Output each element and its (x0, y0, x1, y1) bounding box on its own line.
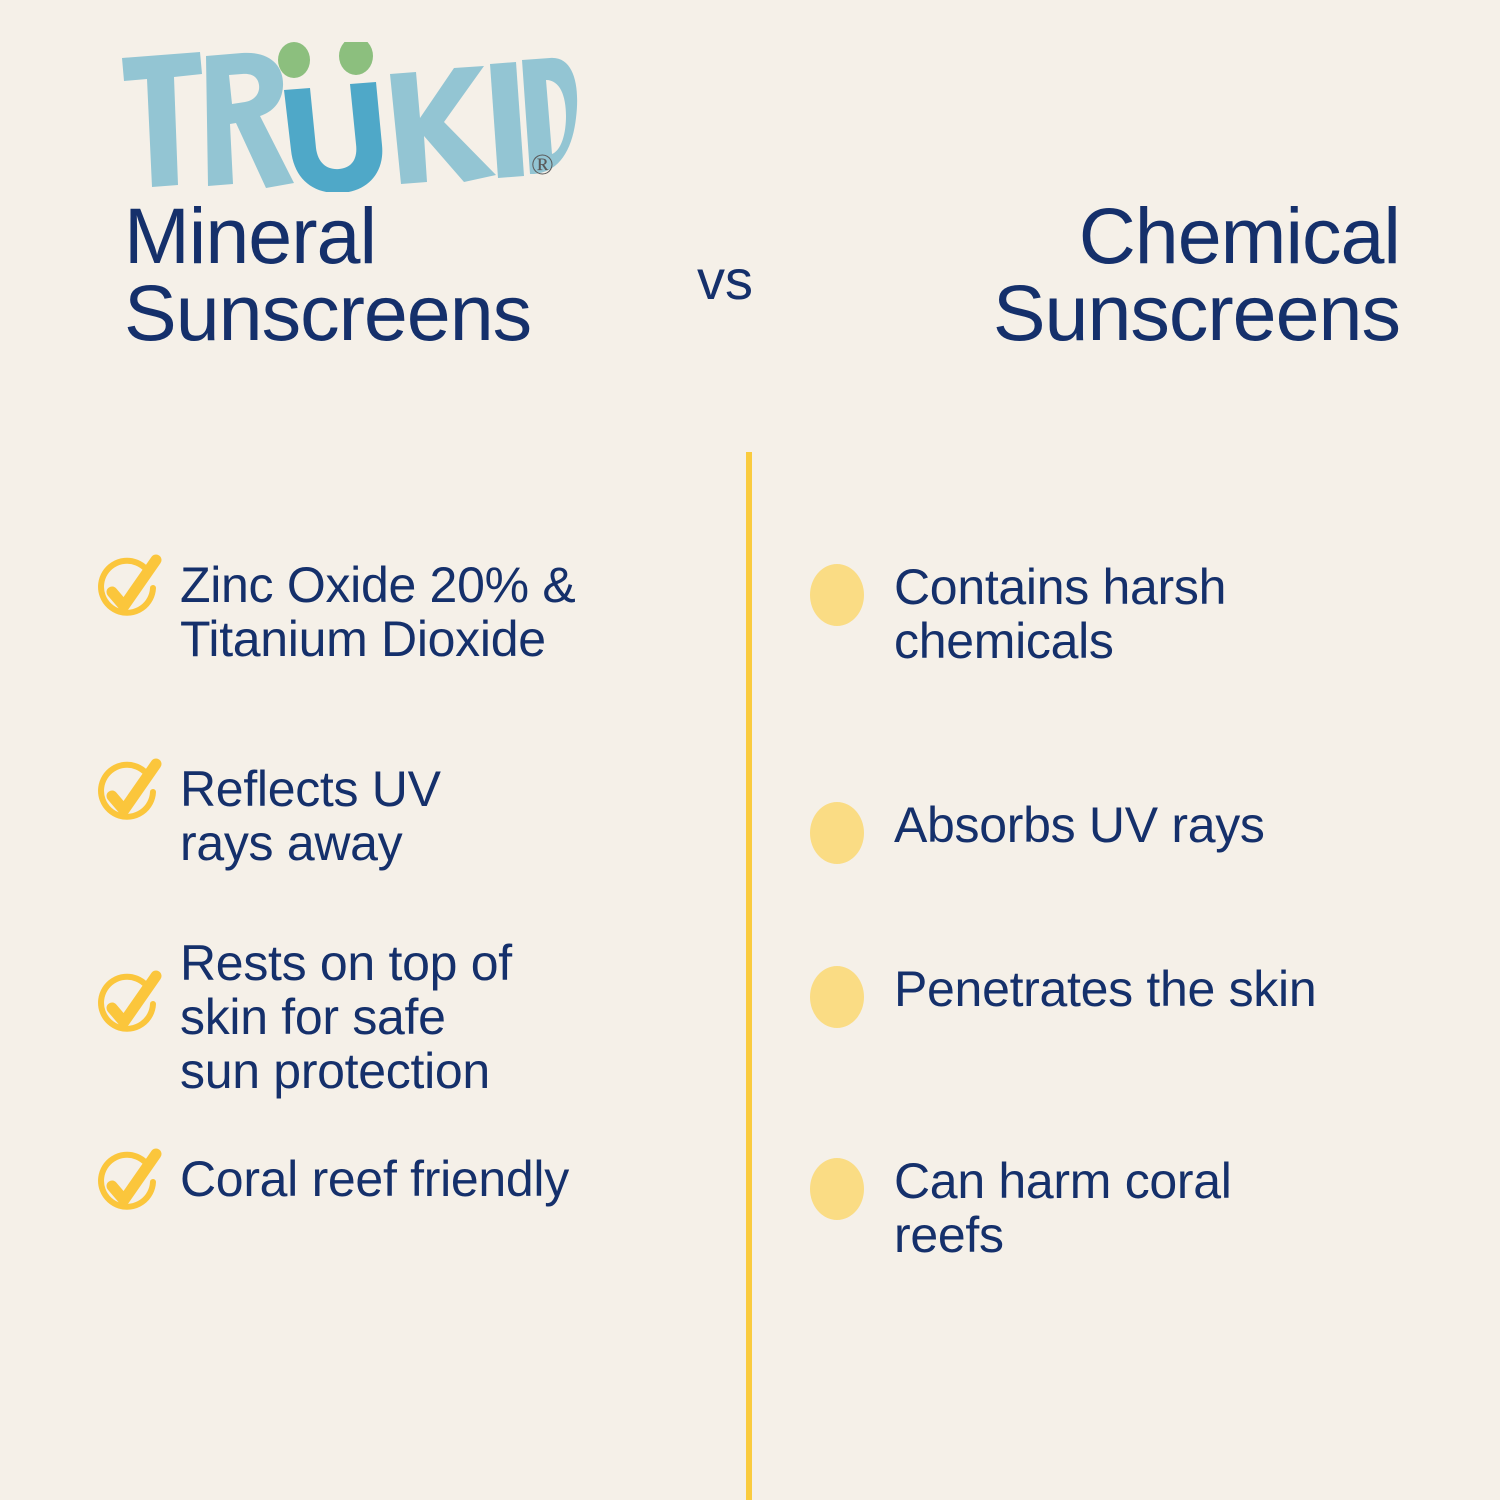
list-item: Absorbs UV rays (810, 798, 1265, 860)
list-item-label: Reflects UV rays away (180, 762, 441, 870)
check-circle-icon (90, 552, 166, 628)
list-item-label: Rests on top of skin for safe sun protec… (180, 936, 512, 1098)
list-item: Zinc Oxide 20% & Titanium Dioxide (90, 558, 575, 666)
list-item: Coral reef friendly (90, 1152, 569, 1228)
chemical-column: Contains harsh chemicals Absorbs UV rays… (790, 0, 1490, 1500)
list-item: Contains harsh chemicals (810, 560, 1226, 668)
list-item: Can harm coral reefs (810, 1154, 1232, 1262)
check-circle-icon (90, 968, 166, 1044)
dot-bullet-icon (810, 802, 864, 864)
list-item: Rests on top of skin for safe sun protec… (90, 936, 512, 1098)
list-item-label: Absorbs UV rays (894, 798, 1265, 852)
list-item-label: Can harm coral reefs (894, 1154, 1232, 1262)
dot-bullet-icon (810, 966, 864, 1028)
list-item: Reflects UV rays away (90, 762, 441, 870)
infographic-page: ® Mineral Sunscreens vs Chemical Sunscre… (0, 0, 1500, 1500)
dot-bullet-icon (810, 1158, 864, 1220)
mineral-column: Zinc Oxide 20% & Titanium Dioxide Reflec… (60, 0, 760, 1500)
list-item-label: Contains harsh chemicals (894, 560, 1226, 668)
list-item-label: Coral reef friendly (180, 1152, 569, 1206)
check-circle-icon (90, 756, 166, 832)
list-item-label: Zinc Oxide 20% & Titanium Dioxide (180, 558, 575, 666)
list-item: Penetrates the skin (810, 962, 1316, 1024)
check-circle-icon (90, 1146, 166, 1222)
dot-bullet-icon (810, 564, 864, 626)
list-item-label: Penetrates the skin (894, 962, 1316, 1016)
